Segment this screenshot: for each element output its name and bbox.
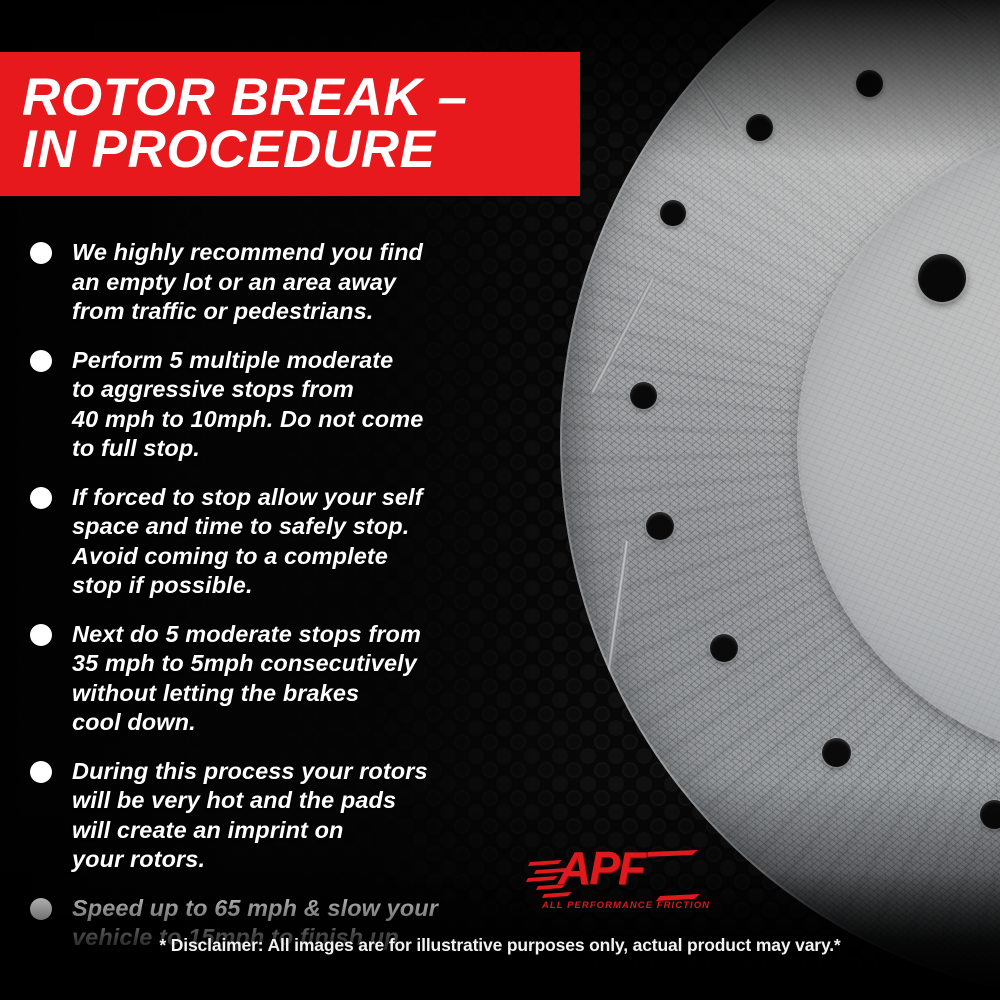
- poster-canvas: ROTOR BREAK – IN PROCEDURE We highly rec…: [0, 0, 1000, 1000]
- list-item-text: If forced to stop allow your self space …: [72, 483, 423, 601]
- list-item-text: During this process your rotors will be …: [72, 757, 428, 875]
- apf-logo: APF ALL PERFORMANCE FRICTION: [528, 846, 700, 916]
- apf-wordmark: APF: [558, 842, 644, 894]
- list-item: If forced to stop allow your self space …: [30, 483, 540, 601]
- bullet-dot-icon: [30, 624, 52, 646]
- list-item-text: Perform 5 multiple moderate to aggressiv…: [72, 346, 423, 464]
- disclaimer-text: * Disclaimer: All images are for illustr…: [0, 935, 1000, 956]
- list-item: We highly recommend you find an empty lo…: [30, 238, 540, 327]
- page-title: ROTOR BREAK – IN PROCEDURE: [0, 72, 468, 177]
- list-item-text: Next do 5 moderate stops from 35 mph to …: [72, 620, 421, 738]
- list-item: Perform 5 multiple moderate to aggressiv…: [30, 346, 540, 464]
- bullet-dot-icon: [30, 350, 52, 372]
- apf-tagline: ALL PERFORMANCE FRICTION: [542, 900, 710, 911]
- bullet-dot-icon: [30, 761, 52, 783]
- bullet-dot-icon: [30, 242, 52, 264]
- title-banner: ROTOR BREAK – IN PROCEDURE: [0, 52, 580, 196]
- list-item-text: We highly recommend you find an empty lo…: [72, 238, 423, 327]
- bullet-dot-icon: [30, 487, 52, 509]
- list-item: During this process your rotors will be …: [30, 757, 540, 875]
- list-item: Next do 5 moderate stops from 35 mph to …: [30, 620, 540, 738]
- procedure-list: We highly recommend you find an empty lo…: [30, 238, 540, 972]
